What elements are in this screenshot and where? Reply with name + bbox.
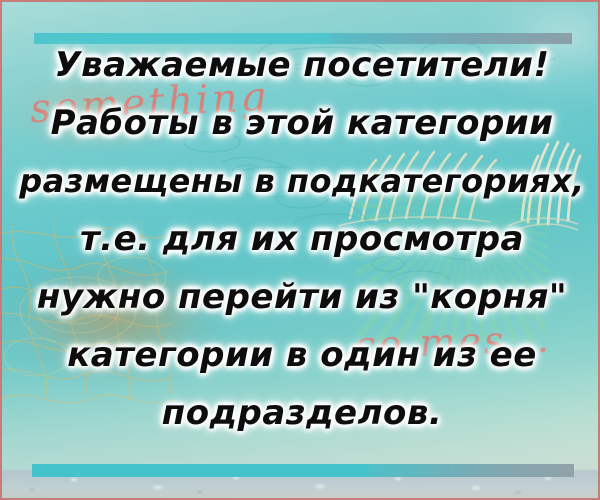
message-text-block: Уважаемые посетители! Работы в этой кате… [2,36,600,442]
bottom-divider-bar [32,464,574,477]
message-line-5: нужно перейти из "корня" [2,268,600,326]
message-line-4: т.е. для их просмотра [2,210,600,268]
announcement-banner: something co mes... Уважаемые посетители… [0,0,600,500]
bottom-divider-shade-segment [368,464,574,477]
bottom-divider-accent-segment [32,464,368,477]
message-line-1: Уважаемые посетители! [2,36,600,94]
message-line-3: размещены в подкатегориях, [2,152,600,210]
message-line-2: Работы в этой категории [2,94,600,152]
message-line-7: подразделов. [2,384,600,442]
message-line-6: категории в один из ее [2,326,600,384]
